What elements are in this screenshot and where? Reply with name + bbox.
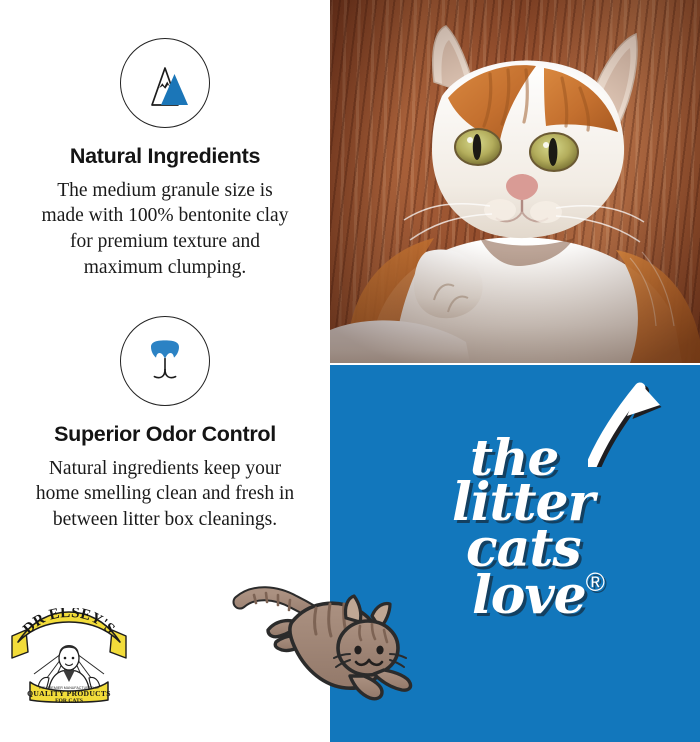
tagline-love-word: love <box>472 565 586 626</box>
feature-body-line: Natural ingredients keep your <box>16 456 314 482</box>
feature-body: The medium granule size is made with 100… <box>0 178 330 281</box>
feature-title: Natural Ingredients <box>0 145 330 169</box>
feature-title: Superior Odor Control <box>0 423 330 447</box>
feature-natural-ingredients: Natural Ingredients The medium granule s… <box>0 38 330 281</box>
feature-superior-odor-control: Superior Odor Control Natural ingredient… <box>0 316 330 533</box>
photo-vignette <box>330 0 700 363</box>
dr-elseys-logo: DR ELSEY'S THE PREMIER MANUFACTURER OF Q… <box>8 608 130 704</box>
mountain-icon <box>120 38 210 128</box>
feature-body-line: maximum clumping. <box>16 255 314 281</box>
feature-body: Natural ingredients keep your home smell… <box>0 456 330 533</box>
leaping-cartoon-cat <box>232 578 414 702</box>
logo-ribbon-line1: QUALITY PRODUCTS <box>27 689 111 698</box>
logo-ribbon-line2: FOR CATS <box>55 698 83 704</box>
feature-body-line: home smelling clean and fresh in <box>16 481 314 507</box>
cat-photograph <box>330 0 700 363</box>
curved-arrow-icon <box>588 332 698 467</box>
marketing-image-canvas: Natural Ingredients The medium granule s… <box>0 0 700 742</box>
feature-body-line: for premium texture and <box>16 229 314 255</box>
feature-body-line: between litter box cleanings. <box>16 507 314 533</box>
feature-body-line: made with 100% bentonite clay <box>16 203 314 229</box>
feature-body-line: The medium granule size is <box>16 178 314 204</box>
registered-trademark-icon: ® <box>586 567 605 597</box>
cat-nose-icon <box>120 316 210 406</box>
tagline-line-love: love® <box>472 570 682 621</box>
